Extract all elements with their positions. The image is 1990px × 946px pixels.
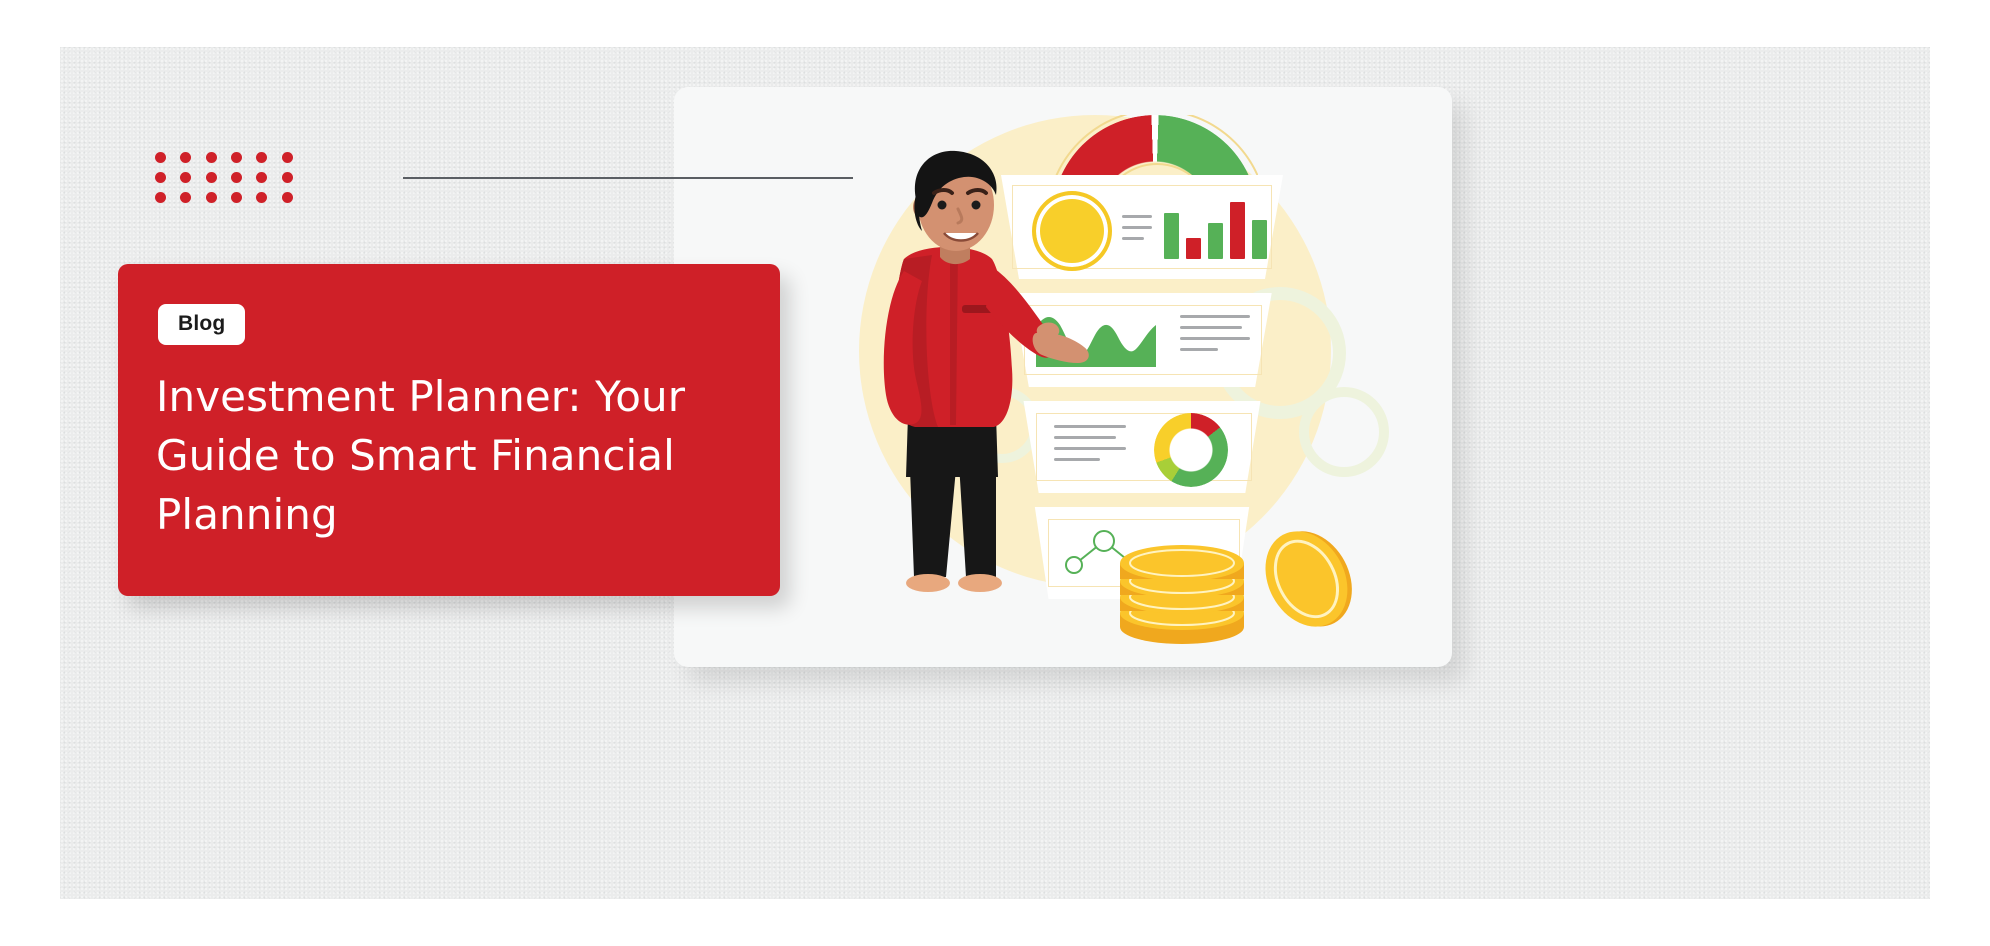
page-title: Investment Planner: Your Guide to Smart … bbox=[156, 368, 750, 544]
dot bbox=[155, 172, 166, 183]
text-lines bbox=[1180, 315, 1250, 359]
blog-badge-label: Blog bbox=[178, 312, 225, 335]
screenshot-root: Blog Investment Planner: Your Guide to S… bbox=[0, 0, 1990, 946]
dot bbox=[256, 192, 267, 203]
dot bbox=[180, 192, 191, 203]
dot bbox=[231, 192, 242, 203]
blog-badge[interactable]: Blog bbox=[158, 304, 245, 345]
dot bbox=[282, 152, 293, 163]
dot bbox=[256, 152, 267, 163]
dot bbox=[206, 152, 217, 163]
gear-icon bbox=[1299, 387, 1389, 477]
dot bbox=[256, 172, 267, 183]
dot bbox=[180, 152, 191, 163]
dot bbox=[282, 172, 293, 183]
bar-chart bbox=[1164, 189, 1267, 259]
donut-chart bbox=[1154, 413, 1228, 487]
dot bbox=[231, 172, 242, 183]
illustration-card bbox=[674, 87, 1452, 667]
dot bbox=[206, 192, 217, 203]
dot bbox=[180, 172, 191, 183]
dot bbox=[231, 152, 242, 163]
dot bbox=[155, 192, 166, 203]
dot bbox=[206, 172, 217, 183]
dot bbox=[282, 192, 293, 203]
text-lines bbox=[1122, 215, 1152, 248]
blog-title-card[interactable]: Blog Investment Planner: Your Guide to S… bbox=[118, 264, 780, 596]
presenter-character bbox=[846, 147, 1096, 637]
dot-grid bbox=[155, 152, 307, 212]
horizontal-rule bbox=[403, 177, 853, 179]
coin-stack bbox=[1104, 505, 1354, 645]
dot bbox=[155, 152, 166, 163]
